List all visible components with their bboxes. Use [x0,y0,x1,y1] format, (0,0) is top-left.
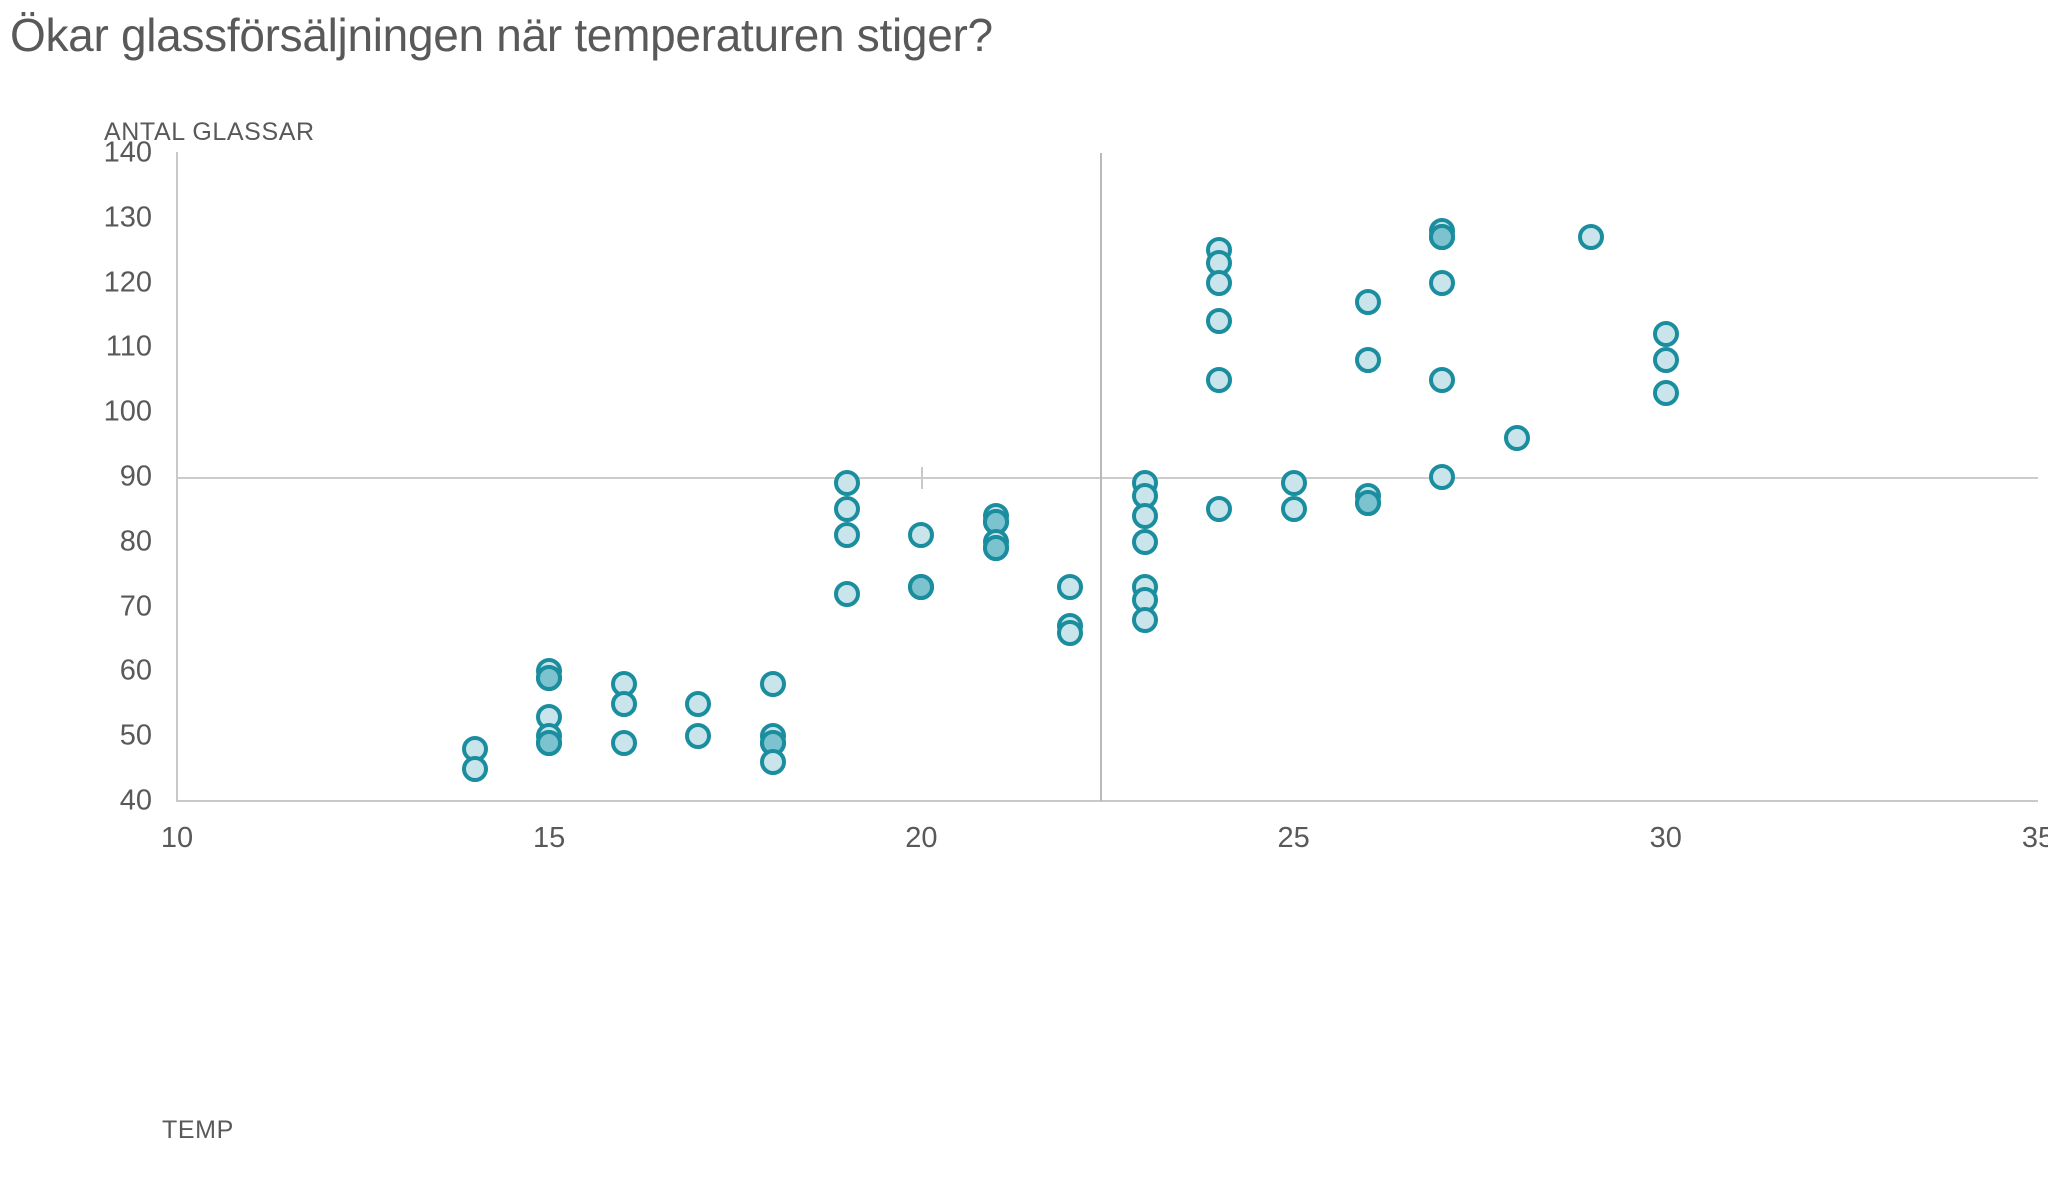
scatter-point [1653,347,1679,373]
scatter-point [908,574,934,600]
scatter-point [462,756,488,782]
scatter-point [1355,347,1381,373]
scatter-point [685,723,711,749]
scatter-point [1355,490,1381,516]
y-axis-tick-label: 90 [120,461,152,494]
scatter-point [1429,224,1455,250]
scatter-point [1132,607,1158,633]
scatter-point [1206,308,1232,334]
scatter-point [611,691,637,717]
scatter-point [1429,367,1455,393]
y-axis-tick-label: 40 [120,785,152,818]
scatter-point [834,581,860,607]
scatter-point [760,671,786,697]
y-axis-tick-label: 50 [120,720,152,753]
y-axis-tick-label: 100 [104,396,152,429]
scatter-point [1206,496,1232,522]
x-axis-tick-label: 20 [905,822,937,855]
y-axis-tick-label: 120 [104,266,152,299]
scatter-point [834,522,860,548]
scatter-point [685,691,711,717]
scatter-point [1057,574,1083,600]
scatter-point [1504,425,1530,451]
y-axis-tick-label: 60 [120,655,152,688]
scatter-point [536,665,562,691]
y-axis-tick-label: 140 [104,137,152,170]
scatter-point [1578,224,1604,250]
scatter-point [536,730,562,756]
scatter-point [1281,470,1307,496]
y-axis-tick-label: 130 [104,201,152,234]
scatter-point [983,535,1009,561]
scatter-point [1057,620,1083,646]
scatter-point [611,730,637,756]
y-axis-tick-label: 80 [120,525,152,558]
scatter-point [1653,321,1679,347]
scatter-point [1429,464,1455,490]
scatter-point [1206,270,1232,296]
x-axis-title: TEMP [162,1116,234,1145]
y-axis-tick-label: 110 [106,331,152,364]
x-axis-tick-label: 30 [1650,822,1682,855]
scatter-point [1355,289,1381,315]
x-axis-tick-label: 10 [161,822,193,855]
scatter-point [760,749,786,775]
plot-area [177,153,2038,801]
scatter-point [1206,367,1232,393]
scatter-point [1281,496,1307,522]
page-title: Ökar glassförsäljningen när temperaturen… [10,8,993,62]
scatter-chart: Ökar glassförsäljningen när temperaturen… [0,0,2048,1202]
y-axis-tick-label: 70 [120,590,152,623]
scatter-point [1653,380,1679,406]
scatter-point [834,496,860,522]
scatter-point [1429,270,1455,296]
scatter-point [1132,529,1158,555]
scatter-point [908,522,934,548]
x-axis-tick-label: 15 [533,822,565,855]
x-axis-tick-label: 25 [1277,822,1309,855]
x-axis-tick-label: 35 [2022,822,2048,855]
scatter-point [1132,503,1158,529]
scatter-point [834,470,860,496]
